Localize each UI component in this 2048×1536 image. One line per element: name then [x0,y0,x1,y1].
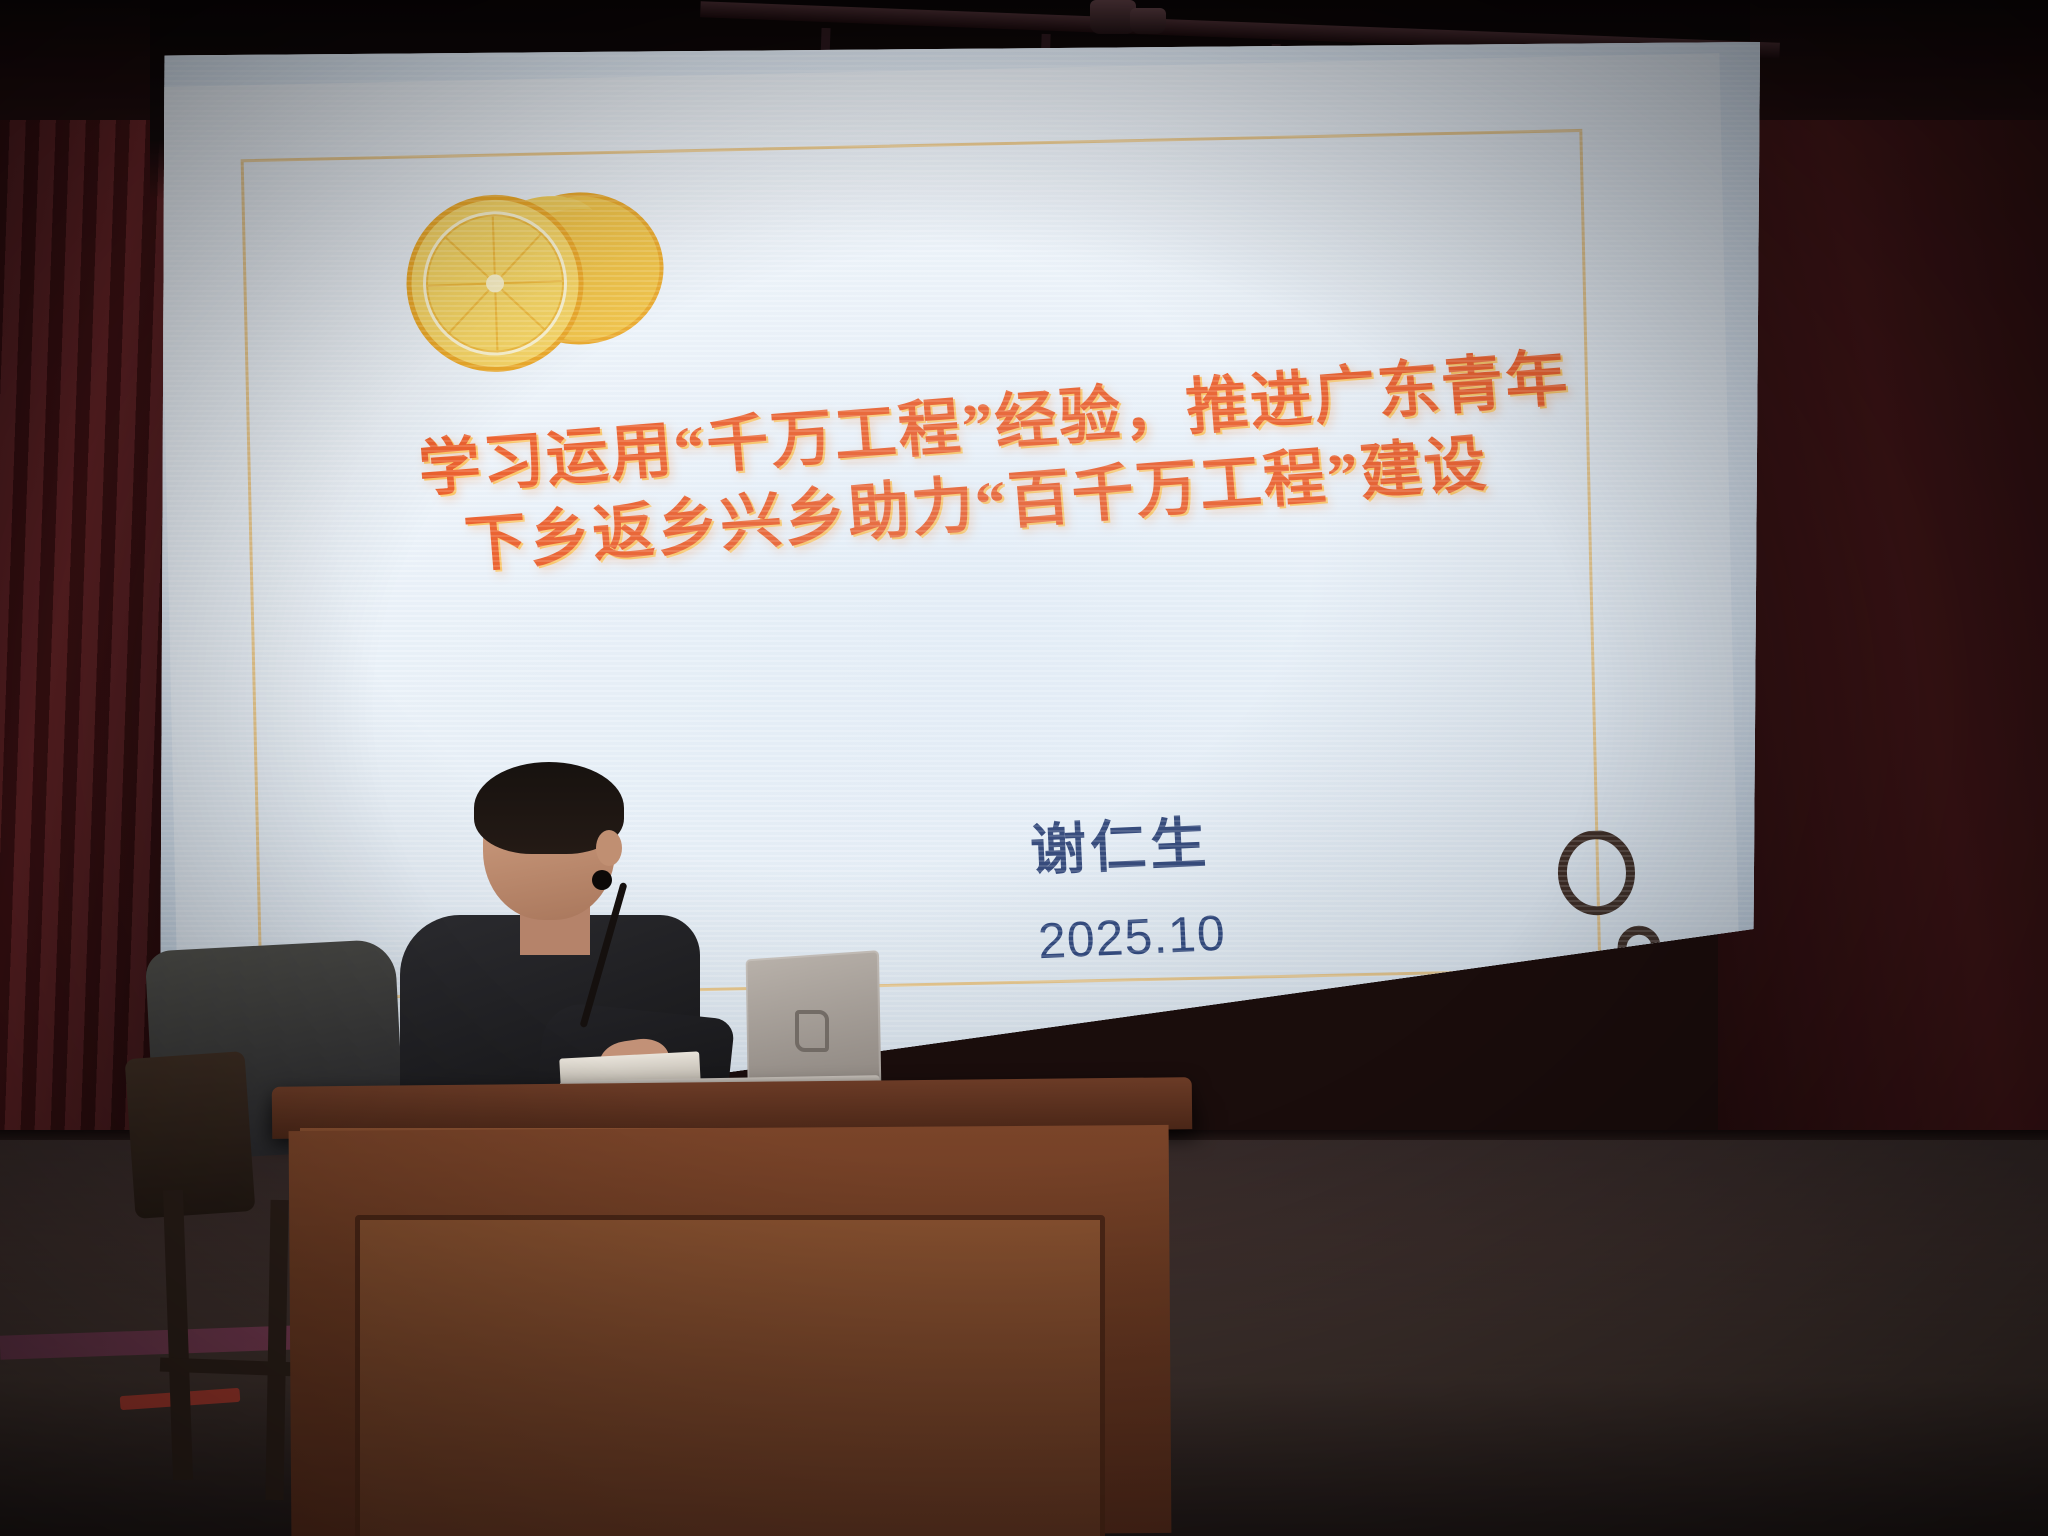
microphone-icon [592,870,612,890]
chair-armrest [125,1051,256,1219]
podium-front-panel [355,1215,1105,1536]
laptop-logo-icon [795,1010,829,1052]
presenter-ear [596,830,622,866]
presentation-scene: 学习运用“千万工程”经验，推进广东青年 下乡返乡兴乡助力“百千万工程”建设 谢仁… [0,0,2048,1536]
stage-light-icon [1130,8,1166,34]
